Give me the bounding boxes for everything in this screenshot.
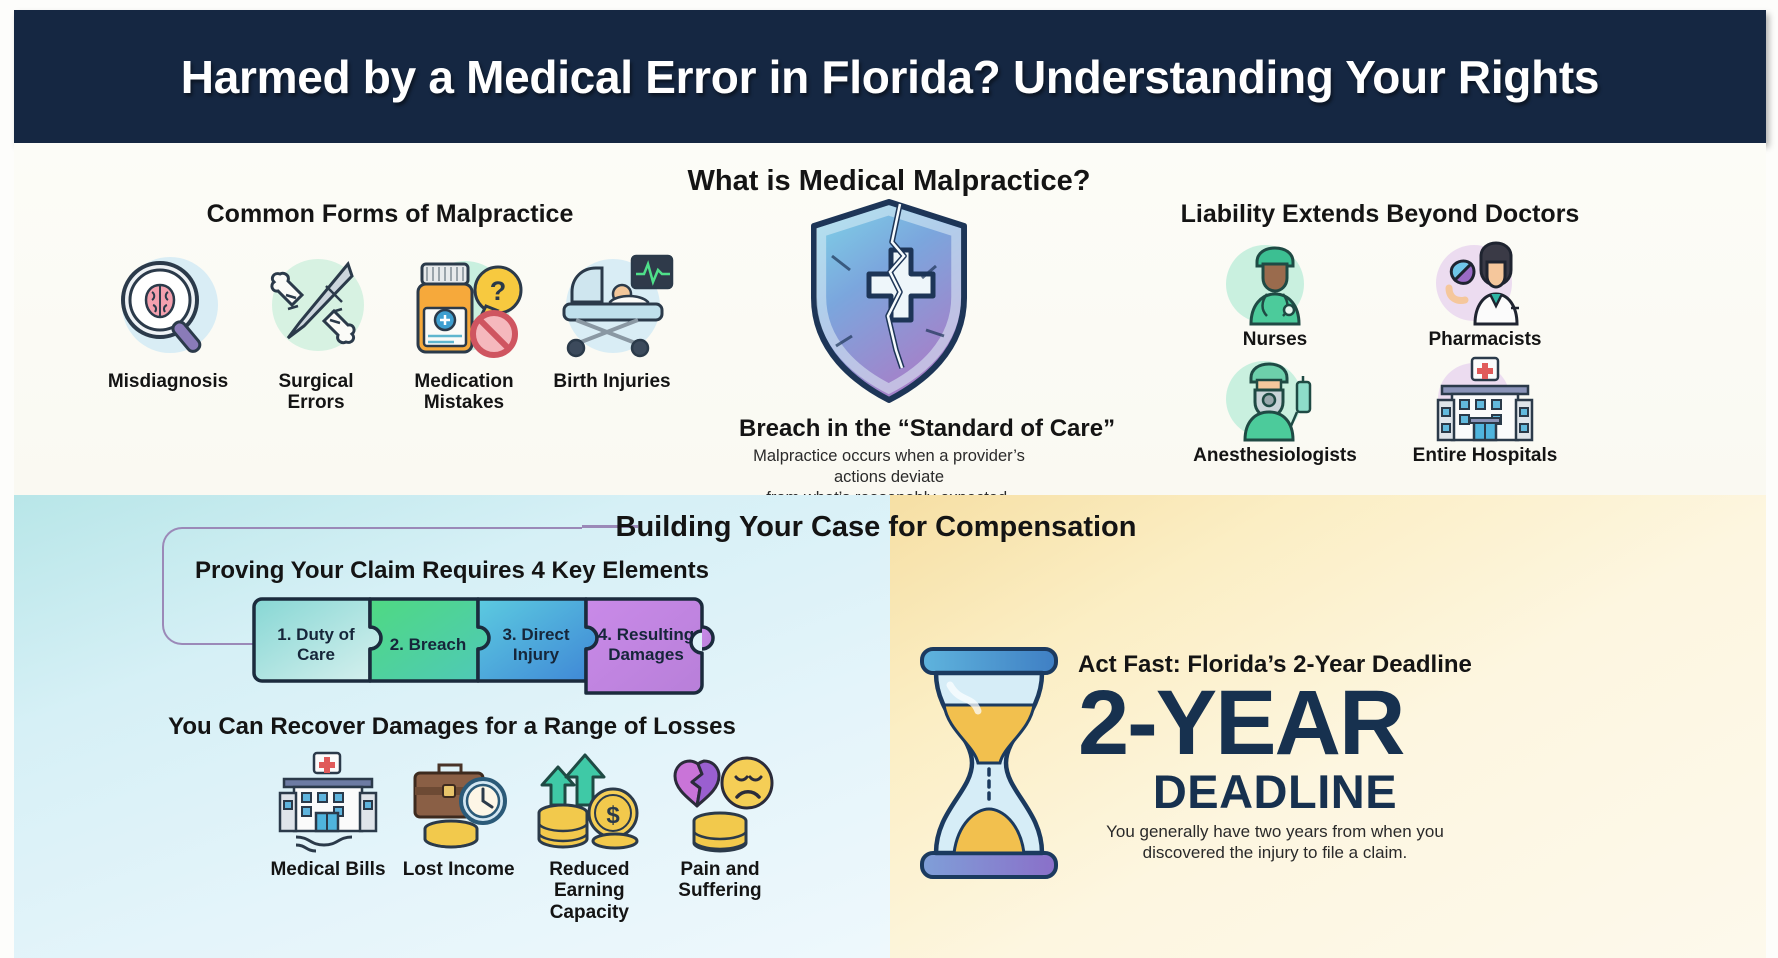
damage-item-pain-and-suffering: Pain and Suffering [656,747,784,923]
common-forms-heading: Common Forms of Malpractice [100,200,680,229]
what-is-malpractice-heading: What is Medical Malpractice? [0,165,1778,198]
damage-item-lost-income: Lost Income [395,747,523,923]
deadline-sub-line2: discovered the injury to file a claim. [1078,842,1472,863]
form-item-misdiagnosis: Misdiagnosis [100,247,236,414]
puzzle-label-1[interactable]: 1. Duty of Care [268,625,364,665]
briefcase-clock-coins-icon [395,747,523,855]
form-item-medication-mistakes: ? Medication Mistakes [396,247,532,414]
deadline-text-block: Act Fast: Florida’s 2-Year Deadline 2-YE… [1078,647,1472,863]
arrows-up-coins-icon: $ [525,747,653,855]
hospital-bill-icon [264,747,392,855]
liability-label: Pharmacists [1380,329,1590,351]
cracked-shield-cross-icon [739,196,1039,411]
damages-heading: You Can Recover Damages for a Range of L… [14,713,890,741]
damage-item-reduced-earning-capacity: $ Reduced Earning Capacity [525,747,653,923]
damage-item-medical-bills: Medical Bills [264,747,392,923]
key-elements-heading: Proving Your Claim Requires 4 Key Elemen… [14,557,890,585]
deadline-sub-line1: You generally have two years from when y… [1078,821,1472,842]
form-item-birth-injuries: Birth Injuries [544,247,680,414]
pill-bottle-warning-icon: ? [396,247,532,365]
liability-item-entire-hospitals: Entire Hospitals [1380,355,1590,467]
puzzle-label-3[interactable]: 3. Direct Injury [490,625,582,665]
liability-block: Liability Extends Beyond Doctors Nurses [1170,200,1590,471]
form-label: Medication Mistakes [396,371,532,414]
pharmacist-icon [1380,239,1590,327]
liability-item-anesthesiologists: Anesthesiologists [1170,355,1380,467]
broken-heart-sad-face-icon [656,747,784,855]
hospital-building-icon [1380,355,1590,443]
brain-magnifier-icon [100,247,236,365]
liability-label: Nurses [1170,329,1380,351]
header-banner: Harmed by a Medical Error in Florida? Un… [14,10,1766,143]
form-label: Birth Injuries [544,371,680,392]
deadline-block: Act Fast: Florida’s 2-Year Deadline 2-YE… [914,647,1472,884]
deadline-big-number: 2-YEAR [1078,681,1472,766]
liability-grid: Nurses Pharmacists [1170,239,1590,471]
deadline-word: DEADLINE [1078,768,1472,815]
damages-row: Medical Bills [264,747,784,923]
liability-label: Entire Hospitals [1380,445,1590,467]
damage-label: Reduced Earning Capacity [525,859,653,923]
page-title: Harmed by a Medical Error in Florida? Un… [181,50,1599,104]
lower-right-panel: Act Fast: Florida’s 2-Year Deadline 2-YE… [890,495,1766,958]
shield-subtext-line1: Malpractice occurs when a provider’s act… [739,446,1039,488]
anesthesiologist-icon [1170,355,1380,443]
puzzle-label-2[interactable]: 2. Breach [382,635,474,655]
damage-label: Pain and Suffering [656,859,784,902]
nurse-icon [1170,239,1380,327]
hourglass-icon [914,647,1064,884]
infant-bassinet-icon [544,247,680,365]
common-forms-row: Misdiagnosis Surgical Errors [100,247,680,414]
lower-left-panel: Proving Your Claim Requires 4 Key Elemen… [14,495,890,958]
svg-text:?: ? [490,276,507,306]
shield-caption: Breach in the “Standard of Care” [739,415,1039,443]
liability-heading: Liability Extends Beyond Doctors [1170,200,1590,229]
form-label: Surgical Errors [248,371,384,414]
building-case-heading: Building Your Case for Compensation [0,511,1752,544]
svg-text:$: $ [607,802,621,829]
infographic-root: Harmed by a Medical Error in Florida? Un… [0,0,1778,958]
lower-section: Proving Your Claim Requires 4 Key Elemen… [14,495,1766,958]
form-item-surgical-errors: Surgical Errors [248,247,384,414]
puzzle-label-4[interactable]: 4. Resulting Damages [596,625,696,665]
liability-item-pharmacists: Pharmacists [1380,239,1590,351]
puzzle-pieces-row: 1. Duty of Care 2. Breach 3. Direct Inju… [246,595,791,702]
scalpel-broken-bone-icon [248,247,384,365]
damage-label: Medical Bills [264,859,392,880]
shield-block: Breach in the “Standard of Care” Malprac… [739,196,1039,529]
liability-label: Anesthesiologists [1170,445,1380,467]
liability-item-nurses: Nurses [1170,239,1380,351]
damage-label: Lost Income [395,859,523,880]
form-label: Misdiagnosis [100,371,236,392]
common-forms-block: Common Forms of Malpractice Misdiagnosis [100,200,680,414]
